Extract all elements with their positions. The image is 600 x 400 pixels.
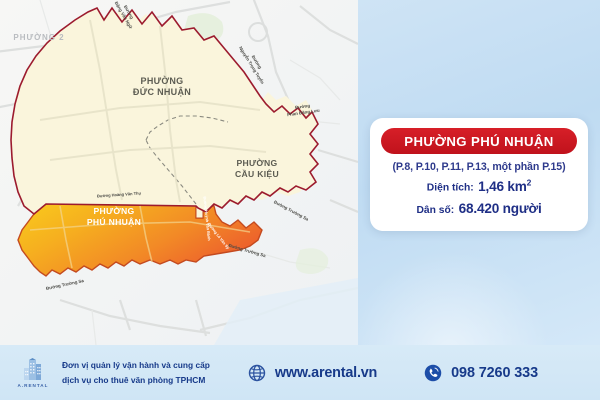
- website-text: www.arental.vn: [275, 365, 377, 381]
- map-label-phu-nhuan: PHƯỜNG PHÚ NHUẬN: [62, 206, 166, 227]
- map-area[interactable]: PHƯỜNG 2 PHƯỜNG ĐỨC NHUẬN PHƯỜNG CẦU KIỆ…: [0, 0, 358, 345]
- map-label-cau-kieu: PHƯỜNG CẦU KIỆU: [207, 158, 307, 179]
- info-card: PHƯỜNG PHÚ NHUẬN (P.8, P.10, P.11, P.13,…: [370, 118, 588, 231]
- footer-website[interactable]: www.arental.vn: [248, 364, 377, 382]
- footer-phone[interactable]: 098 7260 333: [424, 364, 538, 382]
- area-unit: 2: [527, 177, 532, 187]
- area-label: Diện tích:: [427, 183, 474, 194]
- population-value: 68.420 người: [459, 201, 542, 216]
- area-value: 1,46 km2: [478, 179, 531, 194]
- ward-subtitle: (P.8, P.10, P.11, P.13, một phần P.15): [370, 161, 588, 173]
- population-row: Dân số: 68.420 người: [370, 200, 588, 218]
- population-label: Dân số:: [416, 205, 454, 216]
- map-label-phuong-2: PHƯỜNG 2: [4, 33, 74, 43]
- area-row: Diện tích: 1,46 km2: [370, 177, 588, 196]
- footer-tagline: Đơn vị quản lý vận hành và cung cấp dịch…: [62, 358, 210, 387]
- footer-bar: A.RENTAL Đơn vị quản lý vận hành và cung…: [0, 345, 600, 400]
- building-icon: [20, 358, 46, 382]
- globe-icon: [248, 364, 266, 382]
- brand-logo[interactable]: A.RENTAL: [12, 358, 54, 388]
- brand-name: A.RENTAL: [18, 383, 49, 388]
- phone-text: 098 7260 333: [451, 365, 538, 381]
- ward-badge: PHƯỜNG PHÚ NHUẬN: [381, 128, 577, 154]
- infographic-root: PHƯỜNG 2 PHƯỜNG ĐỨC NHUẬN PHƯỜNG CẦU KIỆ…: [0, 0, 600, 400]
- phone-icon: [424, 364, 442, 382]
- map-label-duc-nhuan: PHƯỜNG ĐỨC NHUẬN: [108, 76, 216, 99]
